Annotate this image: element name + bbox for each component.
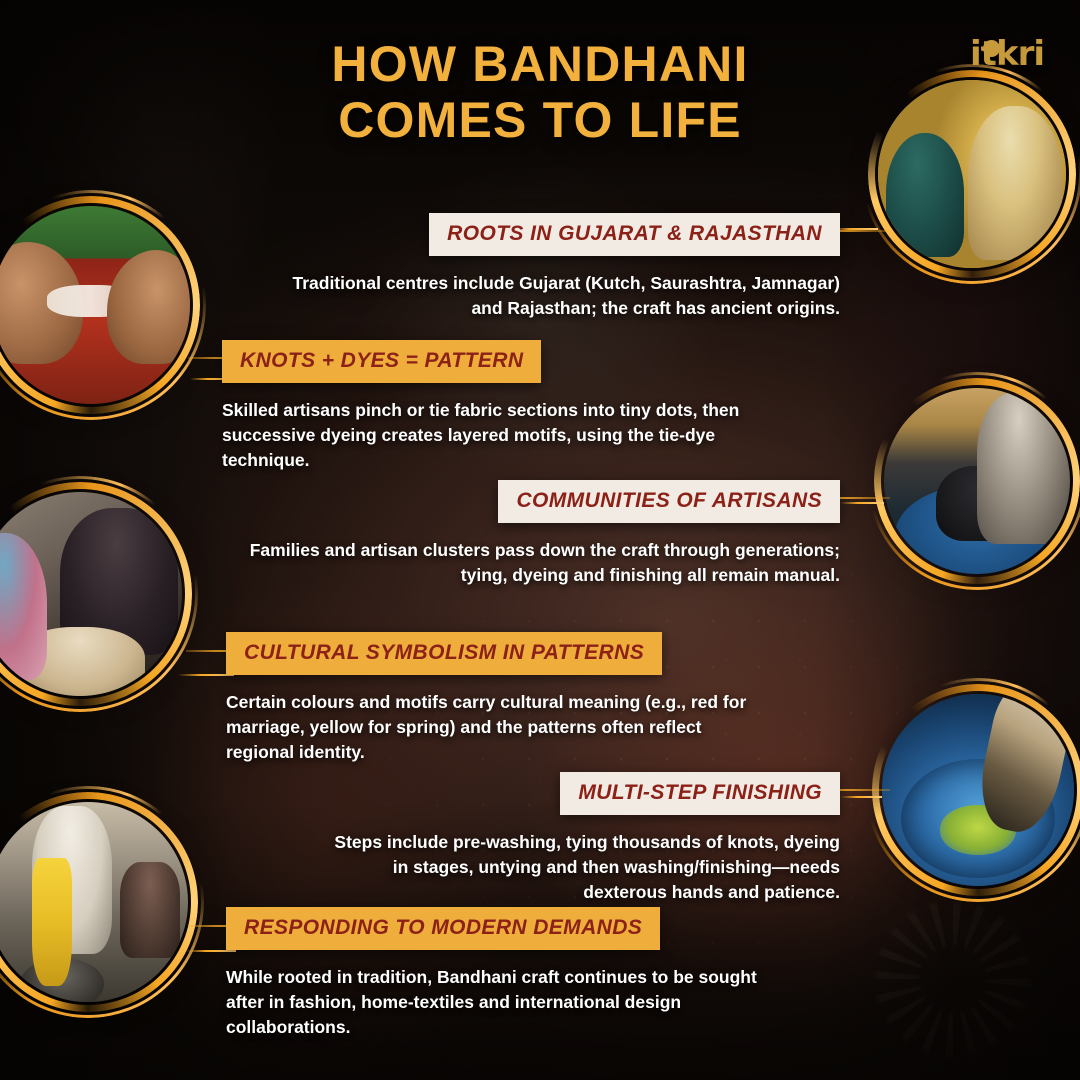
photo-circle-dyeing-man bbox=[874, 378, 1080, 584]
step-title-roots[interactable]: ROOTS IN GUJARAT & RAJASTHAN bbox=[429, 213, 840, 256]
page-title-line-2: COMES TO LIFE bbox=[0, 92, 1080, 148]
connector-line-roots bbox=[836, 230, 888, 232]
step-symbolism: CULTURAL SYMBOLISM IN PATTERNS Certain c… bbox=[226, 632, 766, 765]
step-body-modern-demands: While rooted in tradition, Bandhani craf… bbox=[226, 965, 778, 1040]
step-finishing: MULTI-STEP FINISHING Steps include pre-w… bbox=[320, 772, 840, 905]
brand-logo-itokri[interactable]: itkri bbox=[970, 34, 1044, 74]
photo-disc-artisan-seated bbox=[0, 492, 182, 696]
step-title-modern-demands[interactable]: RESPONDING TO MODERN DEMANDS bbox=[226, 907, 660, 950]
step-knots-dyes: KNOTS + DYES = PATTERN Skilled artisans … bbox=[222, 340, 748, 473]
photo-disc-dyeing-man bbox=[884, 388, 1070, 574]
step-body-knots-dyes: Skilled artisans pinch or tie fabric sec… bbox=[222, 398, 748, 473]
connector-line-knots bbox=[188, 357, 226, 359]
step-title-finishing[interactable]: MULTI-STEP FINISHING bbox=[560, 772, 840, 815]
photo-image-dye-vat bbox=[882, 694, 1074, 886]
photo-disc-dye-vat bbox=[882, 694, 1074, 886]
step-body-finishing: Steps include pre-washing, tying thousan… bbox=[320, 830, 840, 905]
connector-line-communities bbox=[838, 497, 890, 499]
photo-disc-yellow-lift bbox=[0, 802, 188, 1002]
connector-line-finishing bbox=[838, 789, 890, 791]
photo-circle-red-knots bbox=[0, 196, 200, 414]
connector-line-symbolism bbox=[186, 650, 226, 652]
step-roots: ROOTS IN GUJARAT & RAJASTHAN Traditional… bbox=[268, 213, 840, 321]
brand-logo-suffix: ri bbox=[1018, 34, 1044, 74]
brand-logo-mid: k bbox=[996, 34, 1018, 74]
connector-line-modern bbox=[188, 925, 226, 927]
photo-circle-dye-vat bbox=[872, 684, 1080, 896]
step-body-roots: Traditional centres include Gujarat (Kut… bbox=[268, 271, 840, 321]
photo-image-artisan-seated bbox=[0, 492, 182, 696]
step-title-knots-dyes[interactable]: KNOTS + DYES = PATTERN bbox=[222, 340, 541, 383]
step-body-communities: Families and artisan clusters pass down … bbox=[238, 538, 840, 588]
step-title-communities[interactable]: COMMUNITIES OF ARTISANS bbox=[498, 480, 840, 523]
step-communities: COMMUNITIES OF ARTISANS Families and art… bbox=[238, 480, 840, 588]
page-title: HOW BANDHANI COMES TO LIFE bbox=[0, 36, 1080, 148]
photo-image-yellow-lift bbox=[0, 802, 188, 1002]
step-title-symbolism[interactable]: CULTURAL SYMBOLISM IN PATTERNS bbox=[226, 632, 662, 675]
photo-image-dyeing-man bbox=[884, 388, 1070, 574]
page-title-line-1: HOW BANDHANI bbox=[0, 36, 1080, 92]
photo-circle-yellow-lift bbox=[0, 792, 198, 1012]
infographic-poster: HOW BANDHANI COMES TO LIFE itkri bbox=[0, 0, 1080, 1080]
step-modern-demands: RESPONDING TO MODERN DEMANDS While roote… bbox=[226, 907, 778, 1040]
photo-circle-artisan-seated bbox=[0, 482, 192, 706]
step-body-symbolism: Certain colours and motifs carry cultura… bbox=[226, 690, 766, 765]
photo-disc-red-knots bbox=[0, 206, 190, 404]
photo-image-red-knots bbox=[0, 206, 190, 404]
